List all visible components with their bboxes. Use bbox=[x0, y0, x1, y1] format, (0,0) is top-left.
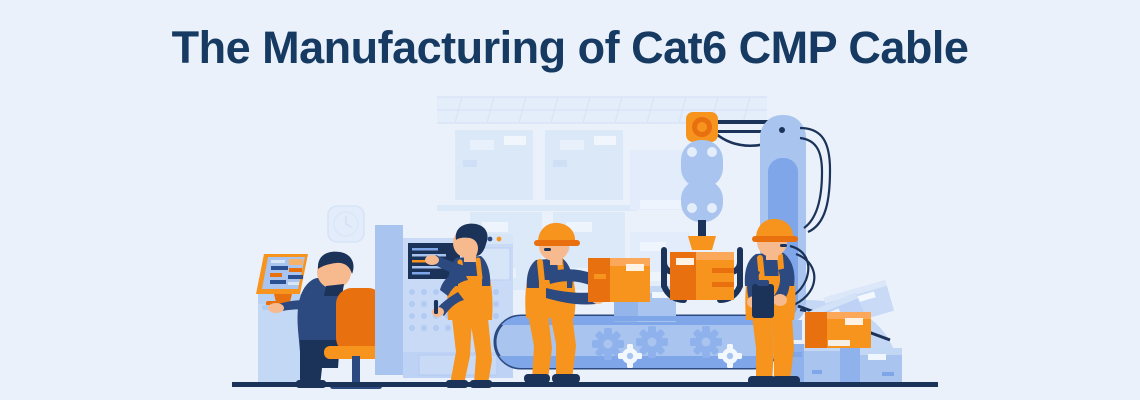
floor-line bbox=[232, 382, 938, 387]
wall-clock-icon bbox=[328, 206, 364, 242]
carried-box bbox=[588, 258, 650, 302]
banner: The Manufacturing of Cat6 CMP Cable bbox=[0, 0, 1140, 400]
clipboard-icon bbox=[752, 280, 774, 318]
crane-box bbox=[670, 252, 734, 300]
page-title: The Manufacturing of Cat6 CMP Cable bbox=[0, 22, 1140, 74]
